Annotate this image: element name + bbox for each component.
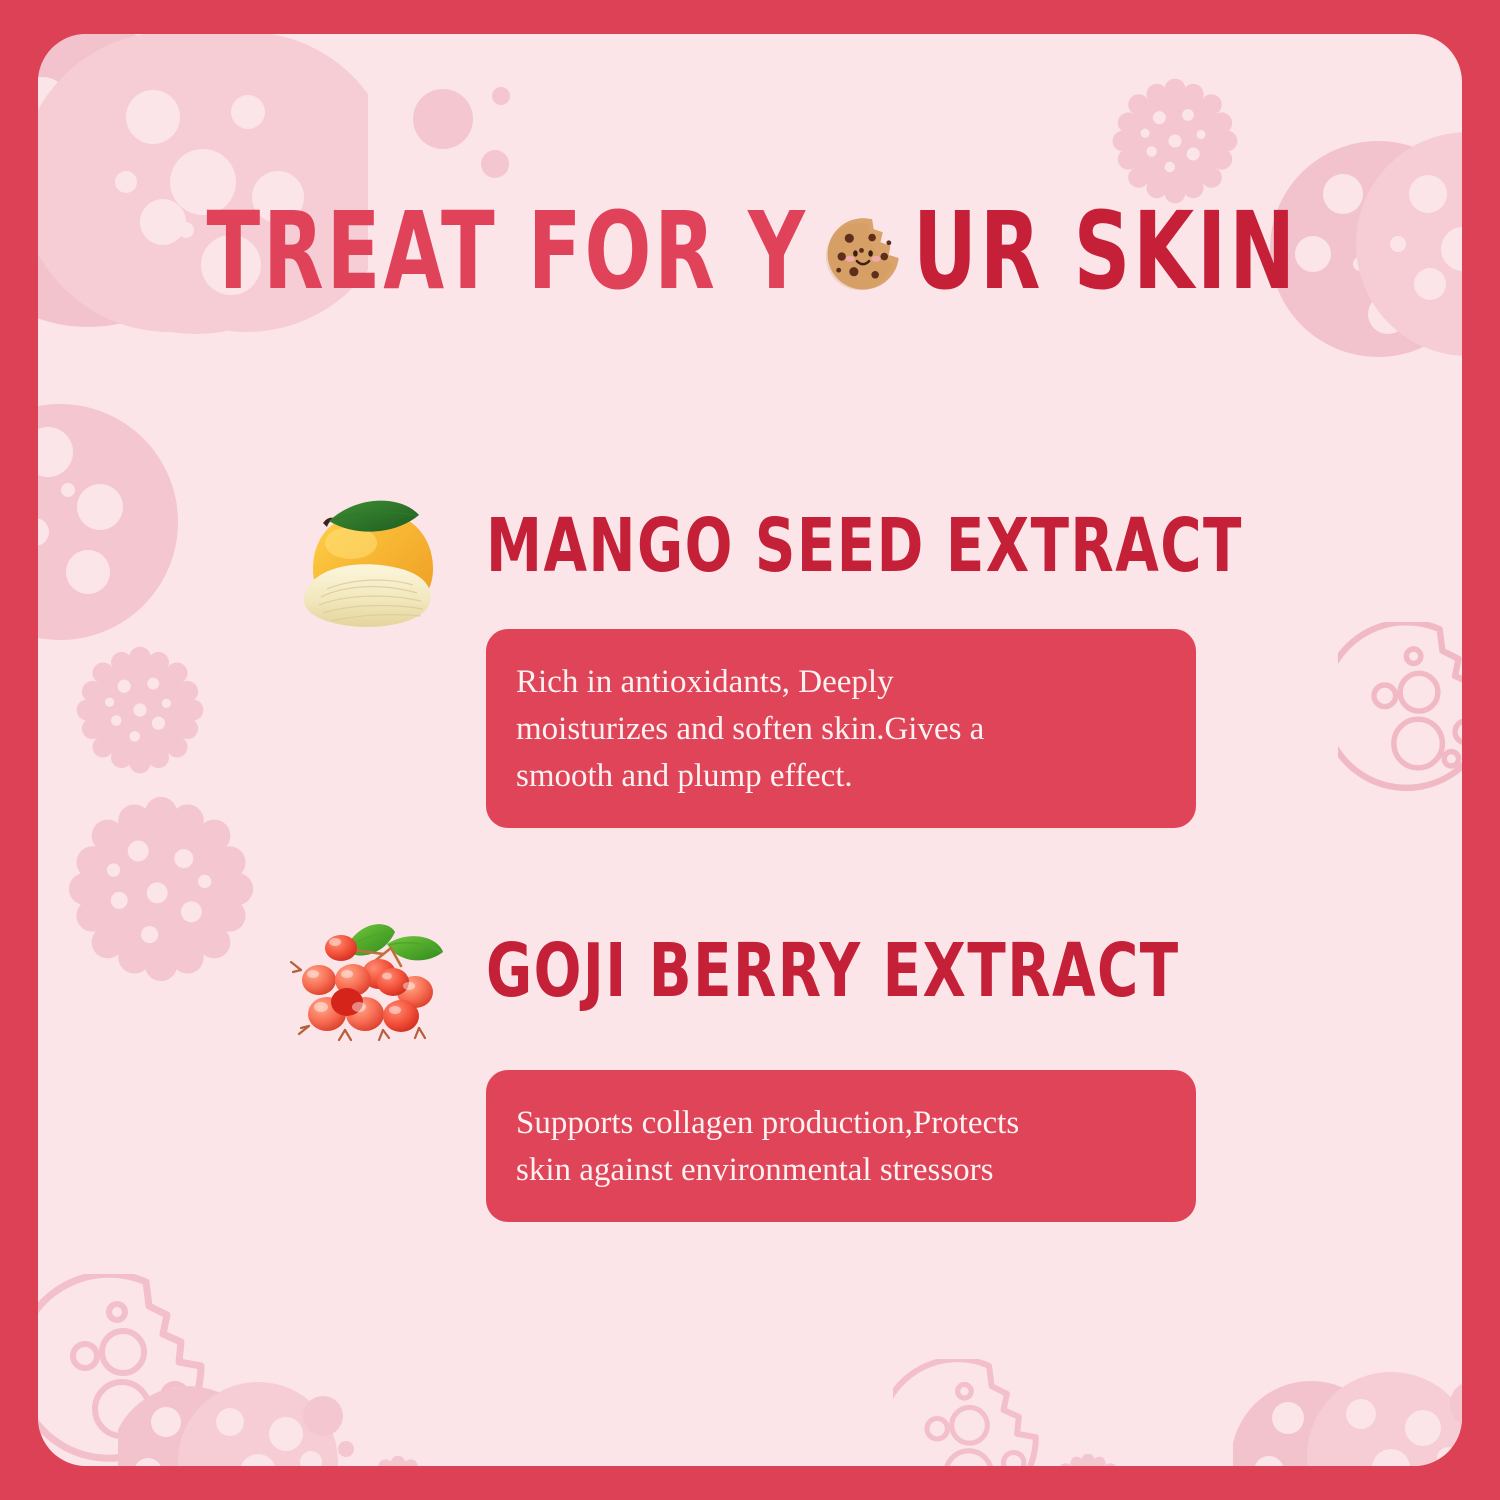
description-box-mango: Rich in antioxidants, Deeply moisturizes…: [486, 629, 1196, 828]
description-box-goji: Supports collagen production,Protects sk…: [486, 1070, 1196, 1222]
section-heading-goji: GOJI BERRY EXTRACT: [486, 903, 1113, 1008]
description-text-mango: Rich in antioxidants, Deeply moisturizes…: [516, 659, 1168, 800]
page-title-part-1: TREAT FOR Y: [207, 200, 808, 307]
poster-root: TREAT FOR Y: [0, 0, 1500, 1500]
section-heading-mango: MANGO SEED EXTRACT: [486, 478, 1113, 583]
cookie-icon: [825, 217, 901, 293]
page-title-part-2: UR SKIN: [913, 200, 1298, 307]
page-title: TREAT FOR Y: [38, 212, 1462, 294]
mango-seed-icon: [283, 489, 463, 639]
description-text-goji: Supports collagen production,Protects sk…: [516, 1100, 1168, 1194]
poster-card: TREAT FOR Y: [38, 34, 1462, 1466]
goji-berry-icon: [283, 914, 463, 1064]
